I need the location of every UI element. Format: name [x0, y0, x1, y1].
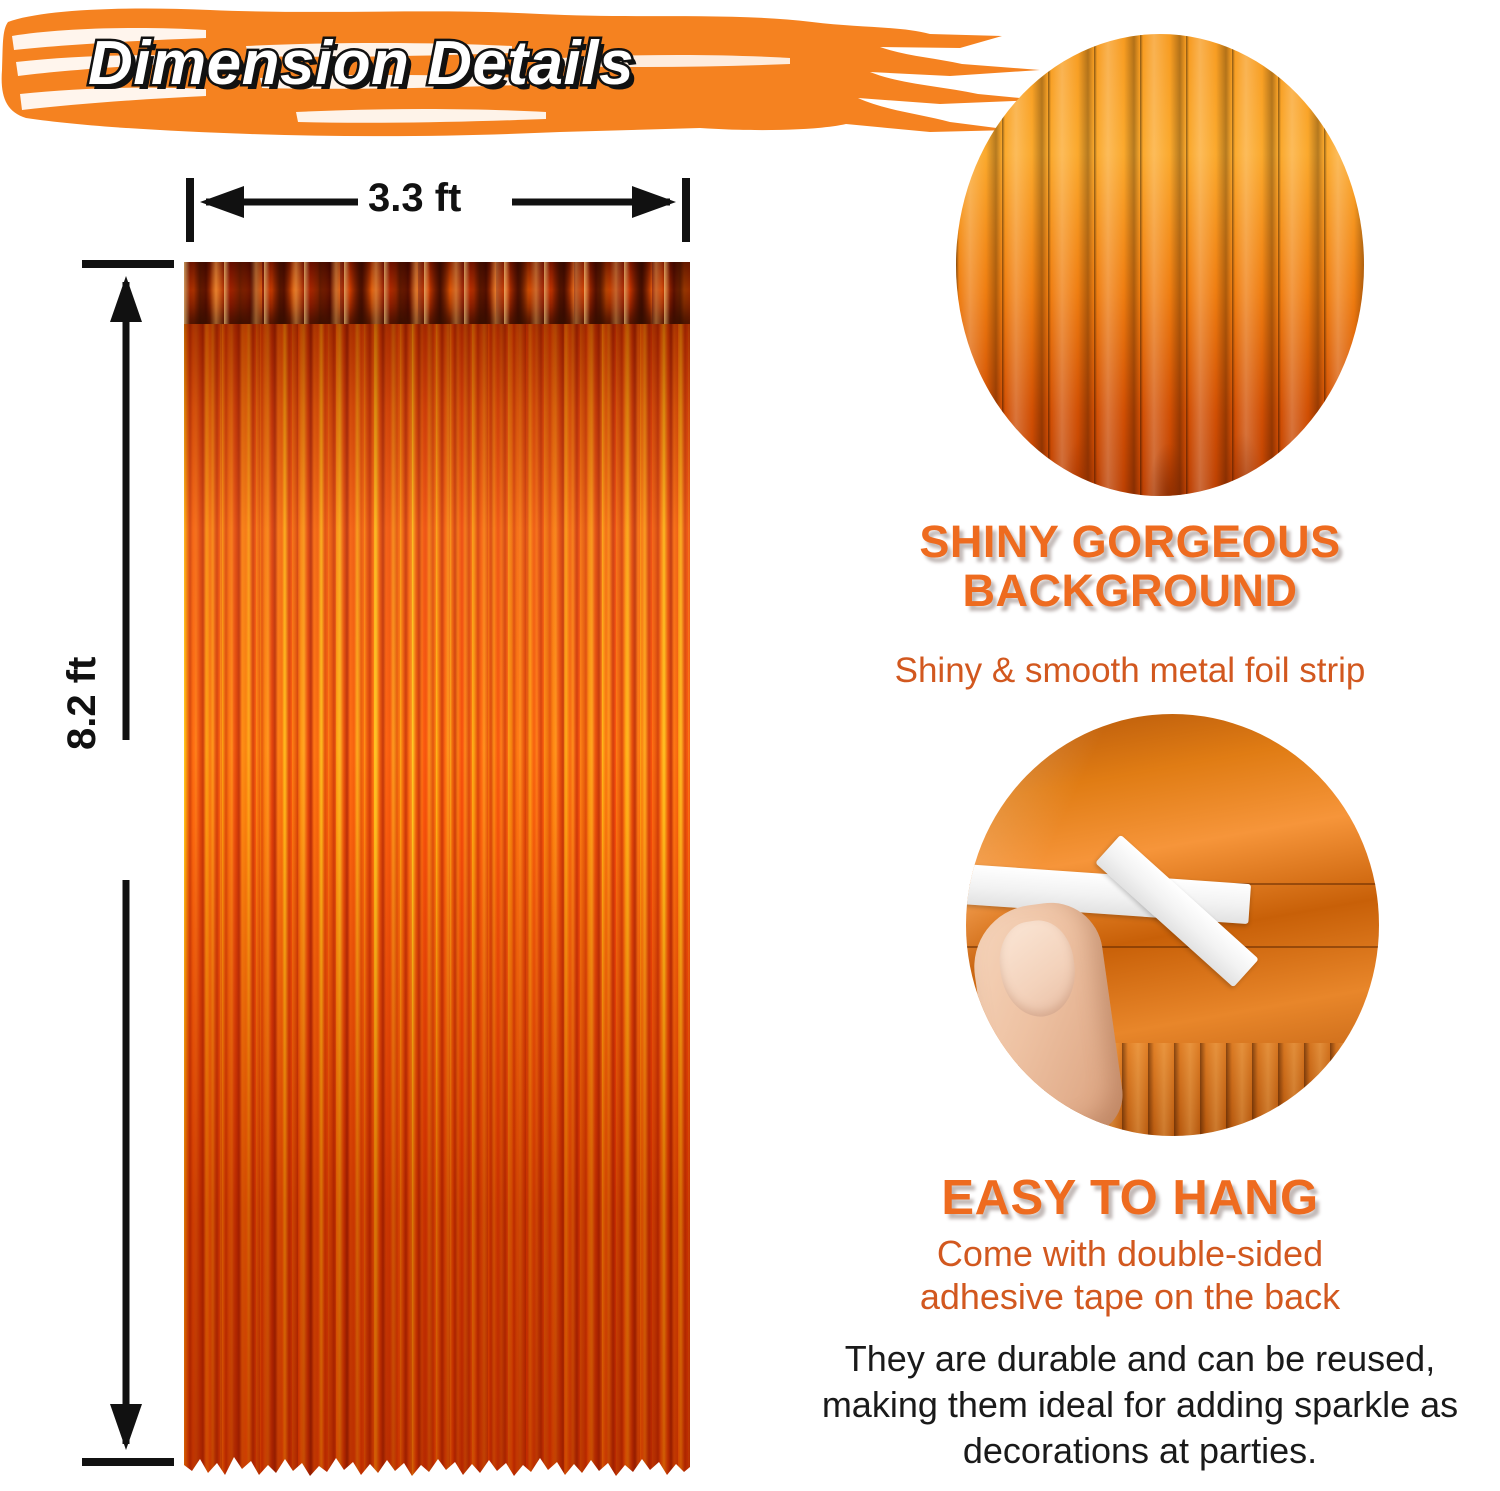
width-arrowhead-left: [200, 186, 244, 218]
closing-note-line-1: They are durable and can be reused,: [800, 1336, 1480, 1382]
height-arrowhead-top: [110, 276, 142, 322]
easy-to-hang-photo: [966, 714, 1379, 1136]
width-dimension-label: 3.3 ft: [358, 176, 471, 221]
height-dimension-label: 8.2 ft: [60, 647, 105, 760]
feature-1-title-line-2: BACKGROUND: [760, 567, 1500, 616]
curtain-ragged-hem: [184, 1445, 690, 1477]
curtain-shading-overlay: [184, 262, 690, 1477]
foil-drip-shading: [956, 283, 1364, 496]
feature-1-subtitle: Shiny & smooth metal foil strip: [760, 650, 1500, 692]
features-column: SHINY GORGEOUS BACKGROUND Shiny & smooth…: [760, 0, 1500, 1486]
feature-2-title-line-1: EASY TO HANG: [760, 1172, 1500, 1225]
fringe-curtain-photo: [184, 262, 690, 1477]
shiny-background-photo: [956, 34, 1364, 496]
height-arrowhead-bottom: [110, 1404, 142, 1450]
feature-2-subtitle-line-1: Come with double-sided: [760, 1232, 1500, 1275]
curtain-pleats: [184, 262, 690, 324]
thumbnail: [994, 916, 1081, 1021]
closing-note-line-3: decorations at parties.: [800, 1428, 1480, 1474]
closing-note: They are durable and can be reused, maki…: [800, 1336, 1480, 1474]
feature-1-title-line-1: SHINY GORGEOUS: [760, 518, 1500, 567]
width-arrowhead-right: [632, 186, 676, 218]
feature-2-title: EASY TO HANG: [760, 1172, 1500, 1225]
infographic-canvas: Dimension Details 3.3 ft 8.2 ft: [0, 0, 1500, 1486]
curtain-header-band: [184, 262, 690, 324]
feature-1-title: SHINY GORGEOUS BACKGROUND: [760, 518, 1500, 615]
feature-2-subtitle-line-2: adhesive tape on the back: [760, 1275, 1500, 1318]
closing-note-line-2: making them ideal for adding sparkle as: [800, 1382, 1480, 1428]
feature-2-subtitle: Come with double-sided adhesive tape on …: [760, 1232, 1500, 1318]
